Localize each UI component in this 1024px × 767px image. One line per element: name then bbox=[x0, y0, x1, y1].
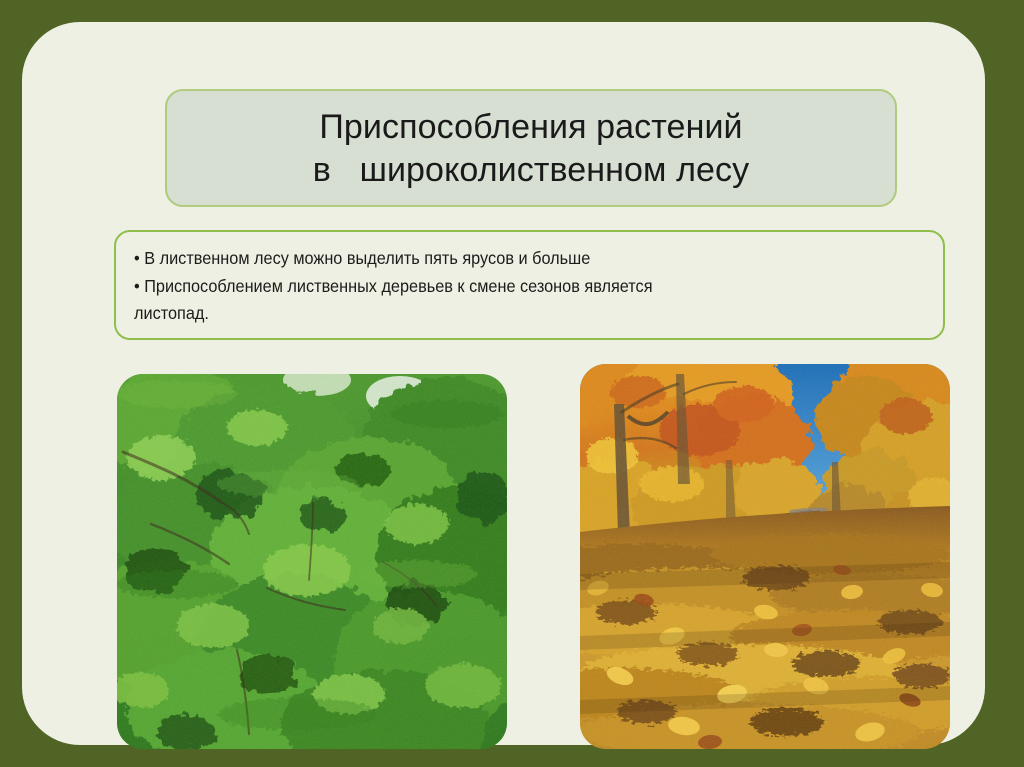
photo-autumn-leaf-fall: Осенний лес с листопадом вдоль дороги bbox=[580, 364, 950, 749]
photo-green-summer-forest-canvas bbox=[117, 374, 507, 749]
bullet-item-2: • Приспособлением лиственных деревьев к … bbox=[134, 273, 870, 301]
slide-title-box: Приспособления растений в широколиственн… bbox=[165, 89, 897, 207]
bullet-item-1: • В лиственном лесу можно выделить пять … bbox=[134, 245, 870, 273]
slide-title-line-2: в широколиственном лесу bbox=[313, 149, 749, 192]
slide-title-line-1: Приспособления растений bbox=[319, 106, 742, 149]
bullet-item-2-continuation: листопад. bbox=[134, 300, 870, 328]
photo-green-summer-forest: Зелёный лиственный лес летом bbox=[117, 374, 507, 749]
slide-root: Приспособления растений в широколиственн… bbox=[0, 0, 1024, 767]
slide-body-box: • В лиственном лесу можно выделить пять … bbox=[114, 230, 945, 340]
slide-content-panel: Приспособления растений в широколиственн… bbox=[22, 22, 985, 745]
photo-autumn-leaf-fall-canvas bbox=[580, 364, 950, 749]
